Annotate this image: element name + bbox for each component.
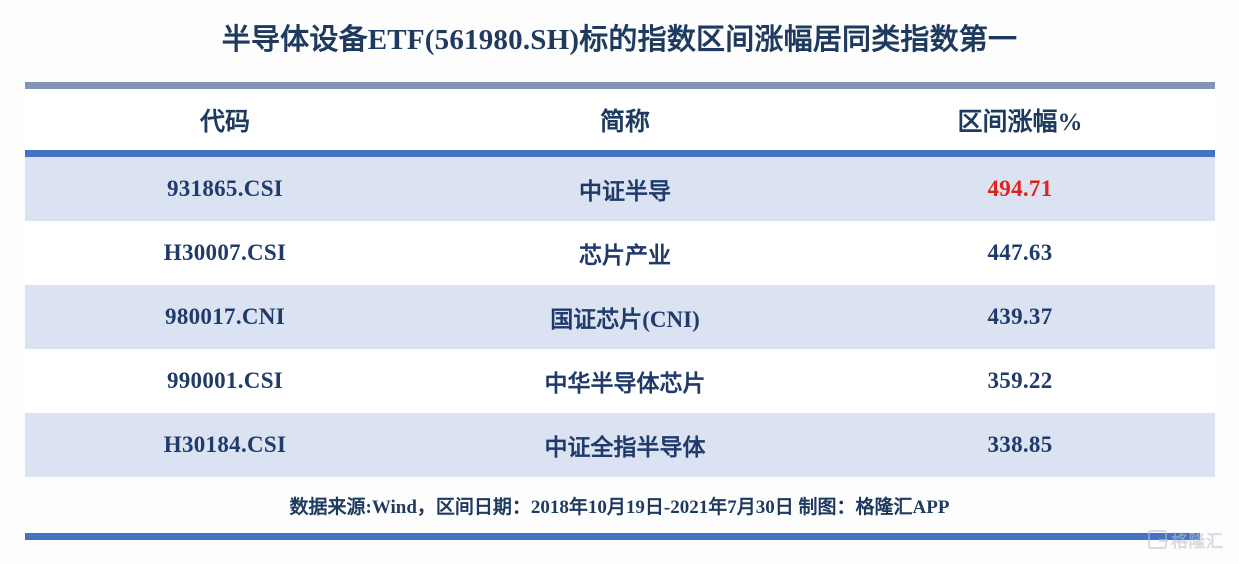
cell-gain: 439.37 (825, 304, 1215, 330)
cell-code: 990001.CSI (25, 368, 425, 394)
watermark-label: 格隆汇 (1171, 527, 1224, 552)
cell-gain: 359.22 (825, 368, 1215, 394)
table-row: 980017.CNI 国证芯片(CNI) 439.37 (25, 285, 1215, 349)
table-row: H30184.CSI 中证全指半导体 338.85 (25, 413, 1215, 477)
bottom-rule (25, 533, 1200, 540)
cell-gain: 338.85 (825, 432, 1215, 458)
cell-name: 中证半导 (425, 172, 825, 206)
cell-code: H30184.CSI (25, 432, 425, 458)
cell-name: 芯片产业 (425, 236, 825, 270)
table-row: H30007.CSI 芯片产业 447.63 (25, 221, 1215, 285)
index-table: 代码 简称 区间涨幅% 931865.CSI 中证半导 494.71 H3000… (25, 82, 1215, 477)
cell-name: 中华半导体芯片 (425, 364, 825, 398)
table-header-row: 代码 简称 区间涨幅% (25, 89, 1215, 150)
table-row: 990001.CSI 中华半导体芯片 359.22 (25, 349, 1215, 413)
table-header-rule (25, 150, 1215, 157)
cell-code: 980017.CNI (25, 304, 425, 330)
column-header-name: 简称 (425, 102, 825, 138)
table-top-rule (25, 82, 1215, 89)
infographic-card: 半导体设备ETF(561980.SH)标的指数区间涨幅居同类指数第一 代码 简称… (0, 0, 1239, 564)
column-header-gain: 区间涨幅% (825, 102, 1215, 138)
cell-code: H30007.CSI (25, 240, 425, 266)
table-row: 931865.CSI 中证半导 494.71 (25, 157, 1215, 221)
source-footnote: 数据来源:Wind，区间日期：2018年10月19日-2021年7月30日 制图… (0, 492, 1239, 519)
cell-code: 931865.CSI (25, 176, 425, 202)
watermark: 格隆汇 (1148, 527, 1224, 552)
gelonghui-logo-icon (1148, 530, 1167, 549)
cell-gain: 447.63 (825, 240, 1215, 266)
cell-name: 国证芯片(CNI) (425, 300, 825, 334)
cell-gain: 494.71 (825, 176, 1215, 202)
column-header-code: 代码 (25, 102, 425, 138)
page-title: 半导体设备ETF(561980.SH)标的指数区间涨幅居同类指数第一 (0, 16, 1239, 58)
cell-name: 中证全指半导体 (425, 428, 825, 462)
